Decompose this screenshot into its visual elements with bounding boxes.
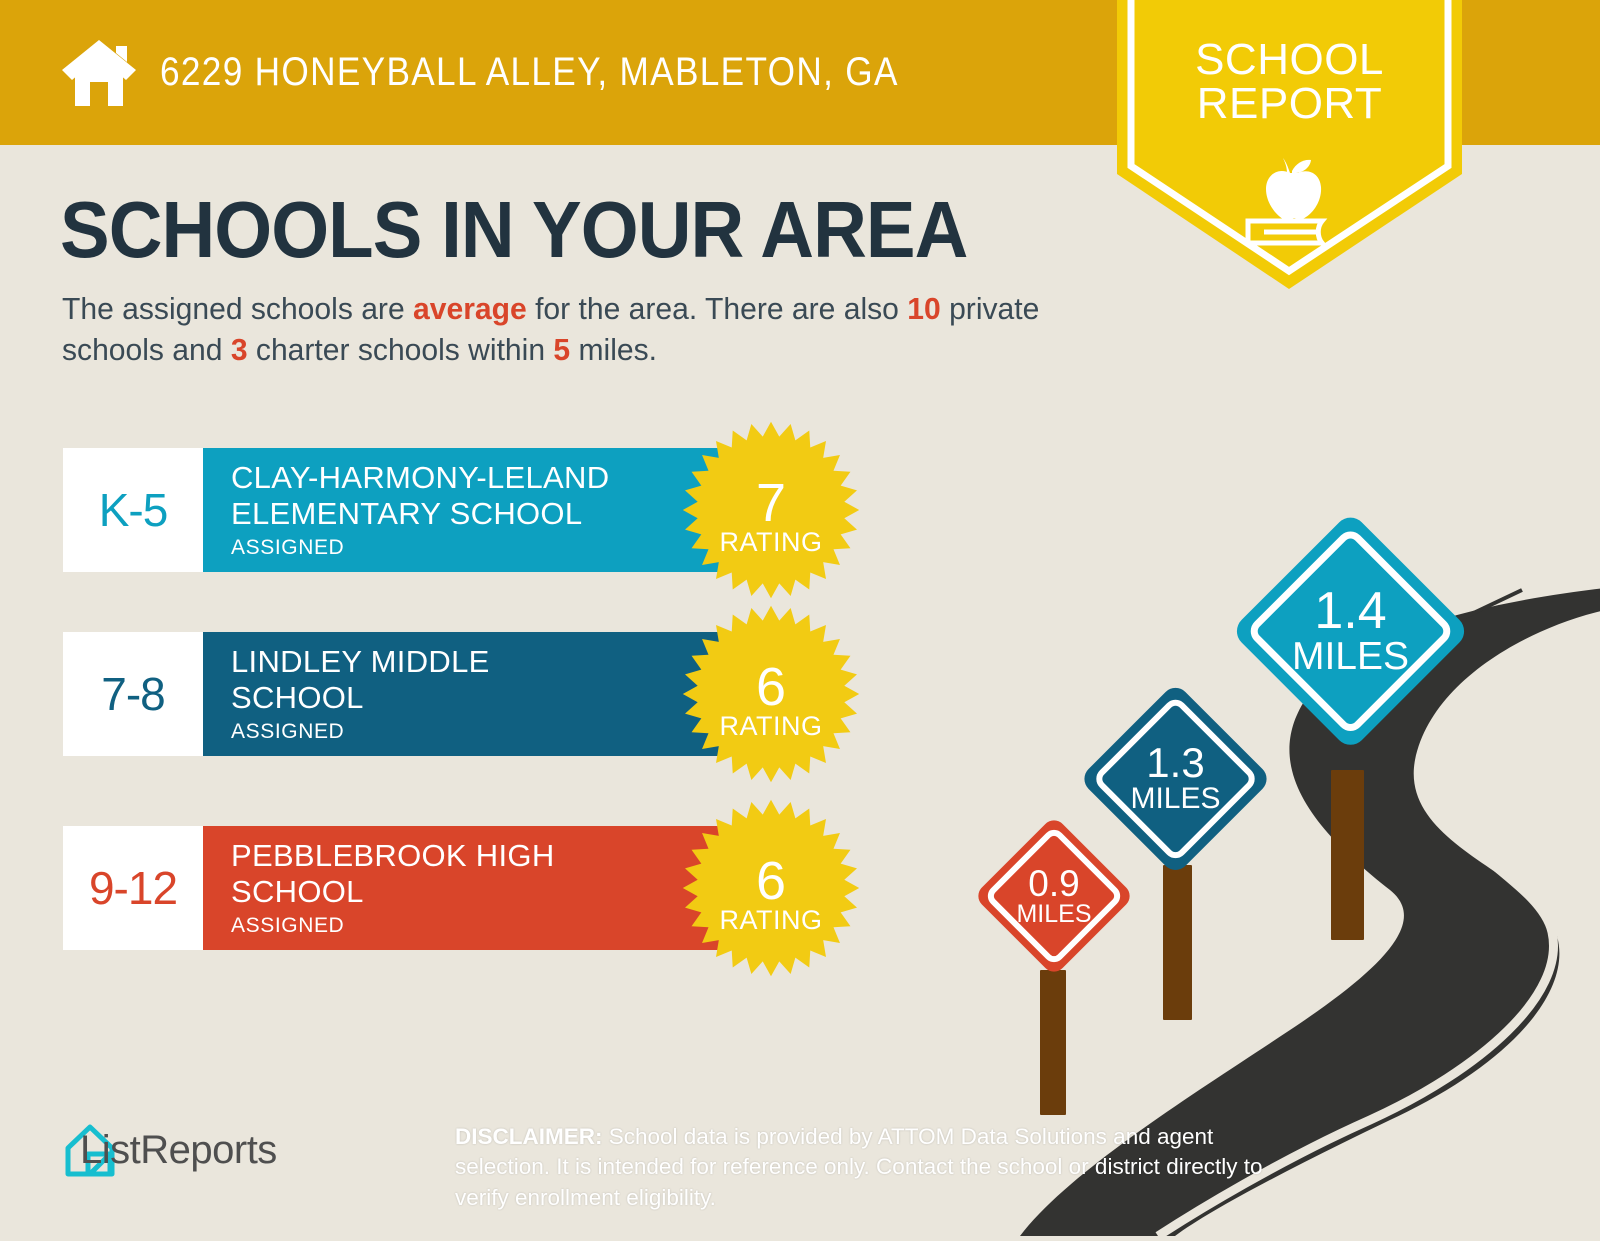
rating-value: 7 [756, 478, 786, 529]
disclaimer-label: DISCLAIMER: [455, 1124, 603, 1149]
subtitle-part5: miles. [570, 332, 657, 367]
rating-badge: 6 RATING [681, 604, 861, 784]
rating-label: RATING [720, 905, 823, 936]
rating-value: 6 [756, 662, 786, 713]
badge-line1: SCHOOL [1117, 38, 1462, 82]
disclaimer-text: DISCLAIMER: School data is provided by A… [455, 1122, 1295, 1213]
apple-icon [1266, 158, 1321, 220]
rating-label: RATING [720, 527, 823, 558]
rating-badge: 7 RATING [681, 420, 861, 600]
grade-box: 9-12 [63, 826, 203, 950]
sign-post [1163, 865, 1192, 1020]
subtitle-highlight-charter-count: 3 [231, 332, 248, 367]
grade-label: K-5 [99, 483, 168, 537]
subtitle-highlight-average: average [413, 291, 527, 326]
grade-box: K-5 [63, 448, 203, 572]
book-icon [1248, 221, 1322, 243]
header-address: 6229 HONEYBALL ALLEY, MABLETON, GA [160, 50, 899, 95]
page-subtitle: The assigned schools are average for the… [62, 288, 1090, 370]
school-report-badge: SCHOOL REPORT [1117, 0, 1462, 289]
grade-label: 9-12 [89, 861, 177, 915]
page-title: SCHOOLS IN YOUR AREA [60, 190, 967, 270]
sign-post [1040, 970, 1066, 1115]
rating-badge: 6 RATING [681, 798, 861, 978]
sign-post [1331, 770, 1364, 940]
rating-label: RATING [720, 711, 823, 742]
badge-line2: REPORT [1117, 82, 1462, 126]
badge-title: SCHOOL REPORT [1117, 38, 1462, 126]
subtitle-highlight-private-count: 10 [907, 291, 940, 326]
grade-label: 7-8 [101, 667, 164, 721]
house-icon [60, 38, 138, 108]
subtitle-part2: for the area. There are also [527, 291, 908, 326]
distance-sign: 0.9 MILES [968, 810, 1140, 982]
subtitle-part1: The assigned schools are [62, 291, 413, 326]
listreports-logo-text: ListReports [80, 1128, 277, 1173]
subtitle-highlight-radius: 5 [553, 332, 570, 367]
grade-box: 7-8 [63, 632, 203, 756]
rating-value: 6 [756, 856, 786, 907]
subtitle-part4: charter schools within [248, 332, 554, 367]
